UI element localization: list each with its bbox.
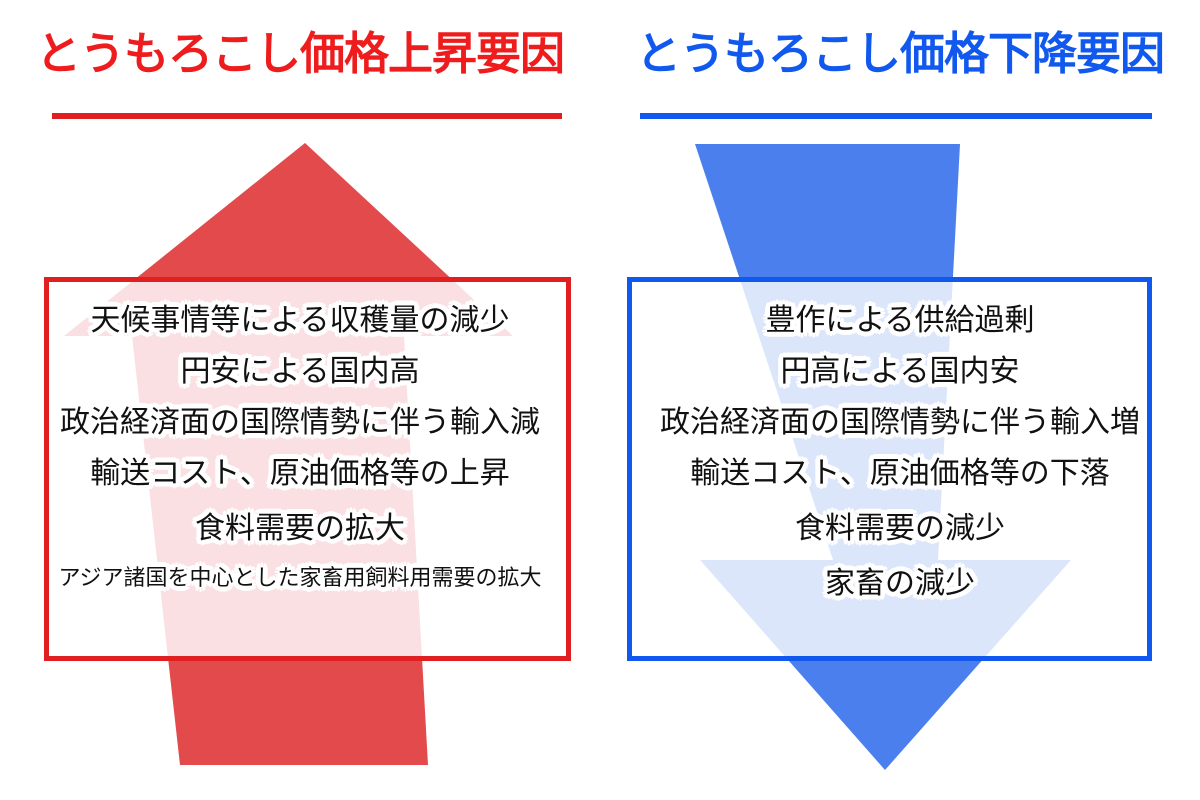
title-underline-right	[640, 113, 1152, 119]
page-title-right: とうもろこし価格下降要因	[600, 30, 1200, 77]
title-underline-left	[52, 113, 562, 119]
page-title-left: とうもろこし価格上昇要因	[0, 30, 600, 77]
factor-box-left	[44, 277, 571, 661]
slide-canvas: とうもろこし価格上昇要因 天候事情等による収穫量の減少 円安による国内高 政治経…	[0, 0, 1200, 800]
panel-price-increase: とうもろこし価格上昇要因 天候事情等による収穫量の減少 円安による国内高 政治経…	[0, 0, 600, 800]
panel-price-decrease: とうもろこし価格下降要因 豊作による供給過剰 円高による国内安 政治経済面の国際…	[600, 0, 1200, 800]
factor-box-right	[627, 277, 1152, 661]
